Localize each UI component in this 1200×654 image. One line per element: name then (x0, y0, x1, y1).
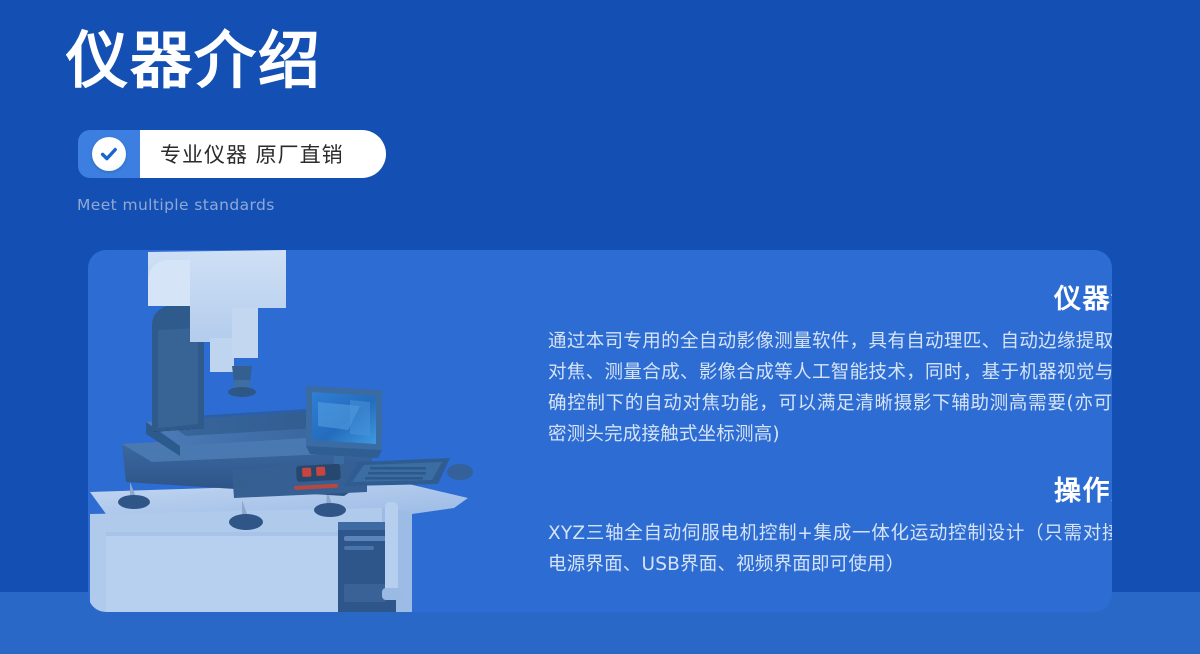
page-title: 仪器介绍 (66, 26, 586, 95)
page-header: 仪器介绍 专业仪器 原厂直销 Meet multiple standards (66, 26, 586, 95)
badge-label: 专业仪器 原厂直销 (160, 139, 344, 169)
mouse (447, 464, 473, 480)
page-root: 仪器介绍 专业仪器 原厂直销 Meet multiple standards (0, 0, 1200, 654)
machine-illustration (88, 250, 488, 612)
certification-badge: 专业仪器 原厂直销 (78, 130, 386, 178)
section-instrument-intro: 仪器介绍 通过本司专用的全自动影像测量软件，具有自动理匹、自动边缘提取、自动对焦… (548, 284, 1112, 450)
section-heading-instrument-intro: 仪器介绍 (548, 284, 1112, 316)
section-heading-operation-method: 操作方式 (548, 476, 1112, 508)
content-card: 仪器介绍 通过本司专用的全自动影像测量软件，具有自动理匹、自动边缘提取、自动对焦… (88, 250, 1112, 612)
card-text-content: 仪器介绍 通过本司专用的全自动影像测量软件，具有自动理匹、自动边缘提取、自动对焦… (548, 250, 1112, 612)
section-body-operation-method: XYZ三轴全自动伺服电机控制+集成一体化运动控制设计（只需对接220V电源界面、… (548, 518, 1112, 580)
badge-text-panel: 专业仪器 原厂直销 (140, 130, 386, 178)
section-operation-method: 操作方式 XYZ三轴全自动伺服电机控制+集成一体化运动控制设计（只需对接220V… (548, 476, 1112, 579)
section-body-instrument-intro: 通过本司专用的全自动影像测量软件，具有自动理匹、自动边缘提取、自动对焦、测量合成… (548, 326, 1112, 450)
monitor-screen (306, 386, 382, 464)
page-subtitle-english: Meet multiple standards (77, 196, 275, 214)
keyboard (344, 458, 450, 486)
badge-icon-panel (78, 130, 140, 178)
control-panel (294, 464, 341, 490)
check-circle-icon (92, 137, 126, 171)
